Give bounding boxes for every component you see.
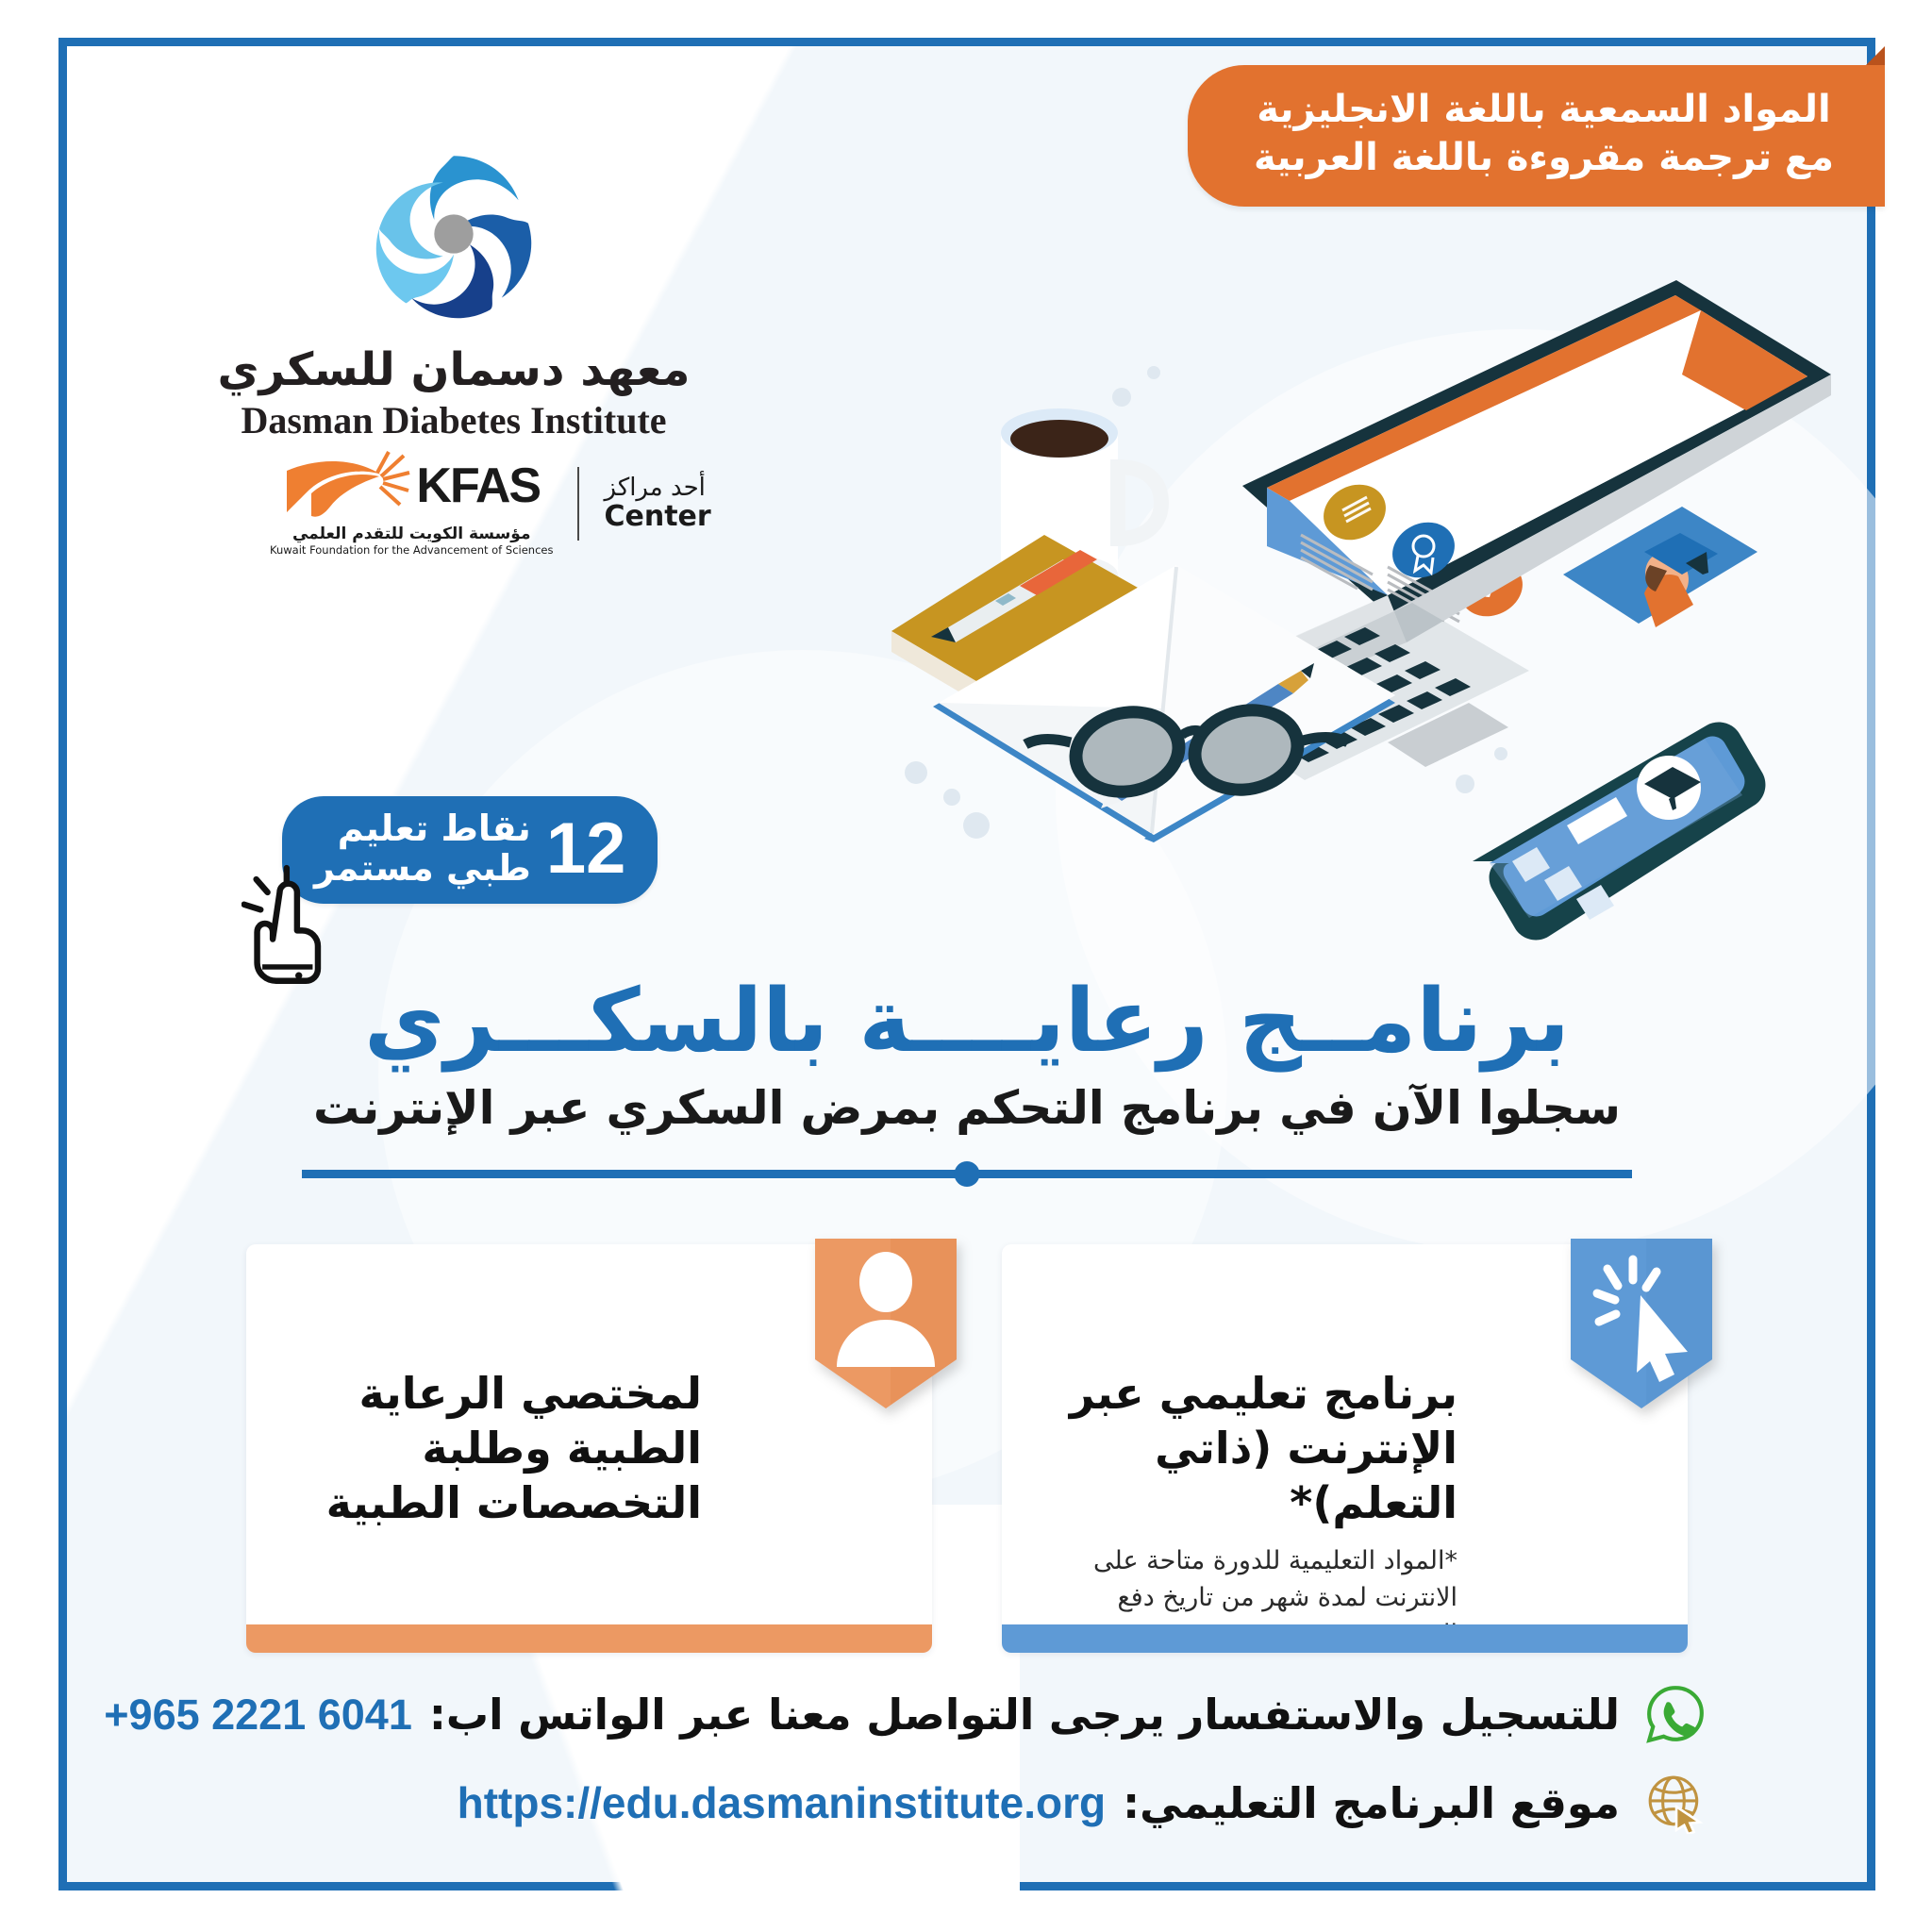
- institute-logo-block: معهد دسمان للسكري Dasman Diabetes Instit…: [208, 145, 699, 442]
- poster-frame: المواد السمعية باللغة الانجليزية مع ترجم…: [58, 38, 1875, 1890]
- page-subtitle: سجلوا الآن في برنامج التحكم بمرض السكري …: [67, 1081, 1867, 1135]
- whatsapp-label: للتسجيل والاستفسار يرجى التواصل معنا عبر…: [429, 1690, 1620, 1740]
- card-bottom-bar: [246, 1624, 932, 1653]
- globe-cursor-icon: [1644, 1772, 1707, 1834]
- logo-name-arabic: معهد دسمان للسكري: [208, 343, 699, 396]
- kfas-logo-block: KFAS مؤسسة الكويت للتقدم العلمي Kuwait F…: [270, 450, 711, 557]
- whatsapp-icon: [1644, 1683, 1707, 1745]
- kfas-name-arabic: مؤسسة الكويت للتقدم العلمي: [292, 525, 531, 543]
- title-zone: برنامــج رعايــــة بالسكـــري سجلوا الآن…: [67, 971, 1867, 1186]
- card-online-program: برنامج تعليمي عبر الإنترنت (ذاتي التعلم)…: [1002, 1244, 1688, 1653]
- card-heading: لمختصي الرعاية الطبية وطلبة التخصصات الط…: [278, 1367, 702, 1531]
- kfas-fan-icon: [283, 450, 410, 521]
- contact-row-whatsapp[interactable]: للتسجيل والاستفسار يرجى التواصل معنا عبر…: [159, 1683, 1707, 1745]
- pointing-hand-icon: [241, 862, 328, 985]
- swirl-logo-icon: [365, 145, 542, 323]
- person-shield-icon: [806, 1231, 966, 1417]
- desk-elearning-illustration: [878, 263, 1831, 942]
- banner-fold-corner: [1866, 46, 1885, 65]
- smartphone-graduation-icon: [1469, 722, 1765, 941]
- kfas-affiliation-english: Center: [604, 500, 710, 533]
- whatsapp-number[interactable]: +965 2221 6041: [104, 1690, 412, 1740]
- cme-points-badge: 12 نقاط تعليم طبي مستمر: [282, 796, 658, 904]
- banner-line-1: المواد السمعية باللغة الانجليزية: [1254, 86, 1834, 134]
- contact-row-website[interactable]: موقع البرنامج التعليمي: https://edu.dasm…: [159, 1772, 1707, 1834]
- logo-name-english: Dasman Diabetes Institute: [208, 398, 699, 442]
- poster-root: المواد السمعية باللغة الانجليزية مع ترجم…: [0, 0, 1932, 1932]
- title-divider: [302, 1161, 1632, 1186]
- banner-body: المواد السمعية باللغة الانجليزية مع ترجم…: [1188, 65, 1885, 207]
- card-bottom-bar: [1002, 1624, 1688, 1653]
- contact-block: للتسجيل والاستفسار يرجى التواصل معنا عبر…: [159, 1683, 1707, 1860]
- card-heading: برنامج تعليمي عبر الإنترنت (ذاتي التعلم)…: [1034, 1367, 1457, 1531]
- divider-dot: [955, 1161, 980, 1187]
- cursor-click-shield-icon: [1561, 1231, 1722, 1417]
- kfas-wordmark: KFAS: [416, 458, 540, 514]
- feature-cards: برنامج تعليمي عبر الإنترنت (ذاتي التعلم)…: [246, 1244, 1688, 1653]
- kfas-name-english: Kuwait Foundation for the Advancement of…: [270, 543, 553, 557]
- card-audience: لمختصي الرعاية الطبية وطلبة التخصصات الط…: [246, 1244, 932, 1653]
- cme-text-line-2: طبي مستمر: [314, 849, 531, 889]
- audio-language-banner: المواد السمعية باللغة الانجليزية مع ترجم…: [1188, 65, 1885, 207]
- kfas-affiliation-arabic: أحد مراكز: [604, 474, 705, 502]
- cme-points-number: 12: [546, 815, 626, 883]
- cme-text-line-1: نقاط تعليم: [314, 809, 531, 849]
- kfas-divider: [577, 467, 579, 541]
- website-label: موقع البرنامج التعليمي:: [1123, 1778, 1620, 1828]
- page-title: برنامــج رعايــــة بالسكـــري: [67, 971, 1867, 1072]
- banner-line-2: مع ترجمة مقروءة باللغة العربية: [1254, 134, 1834, 182]
- website-url[interactable]: https://edu.dasmaninstitute.org: [458, 1777, 1106, 1828]
